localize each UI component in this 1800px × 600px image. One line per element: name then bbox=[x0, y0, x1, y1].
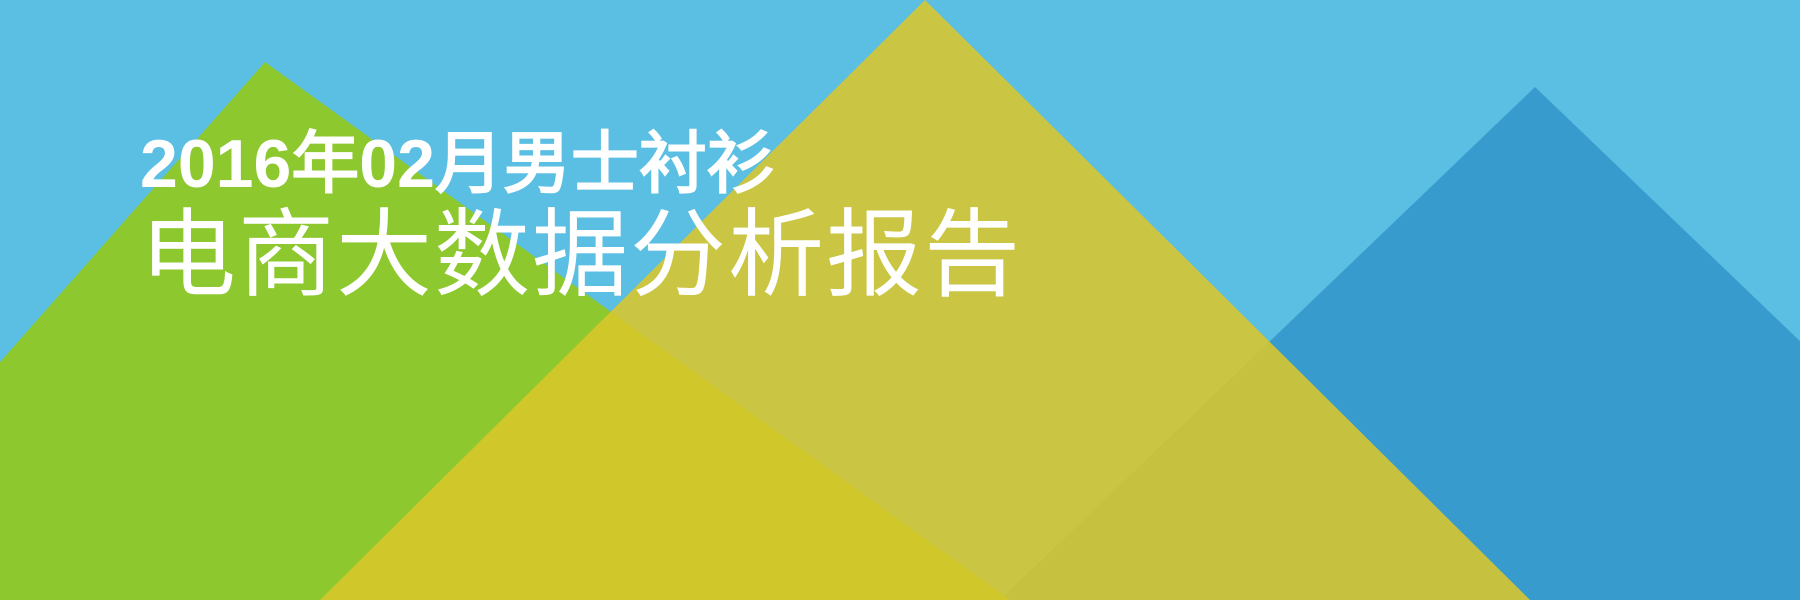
banner-background-graphic bbox=[0, 0, 1800, 600]
report-cover-banner: 2016年02月男士衬衫 电商大数据分析报告 bbox=[0, 0, 1800, 600]
